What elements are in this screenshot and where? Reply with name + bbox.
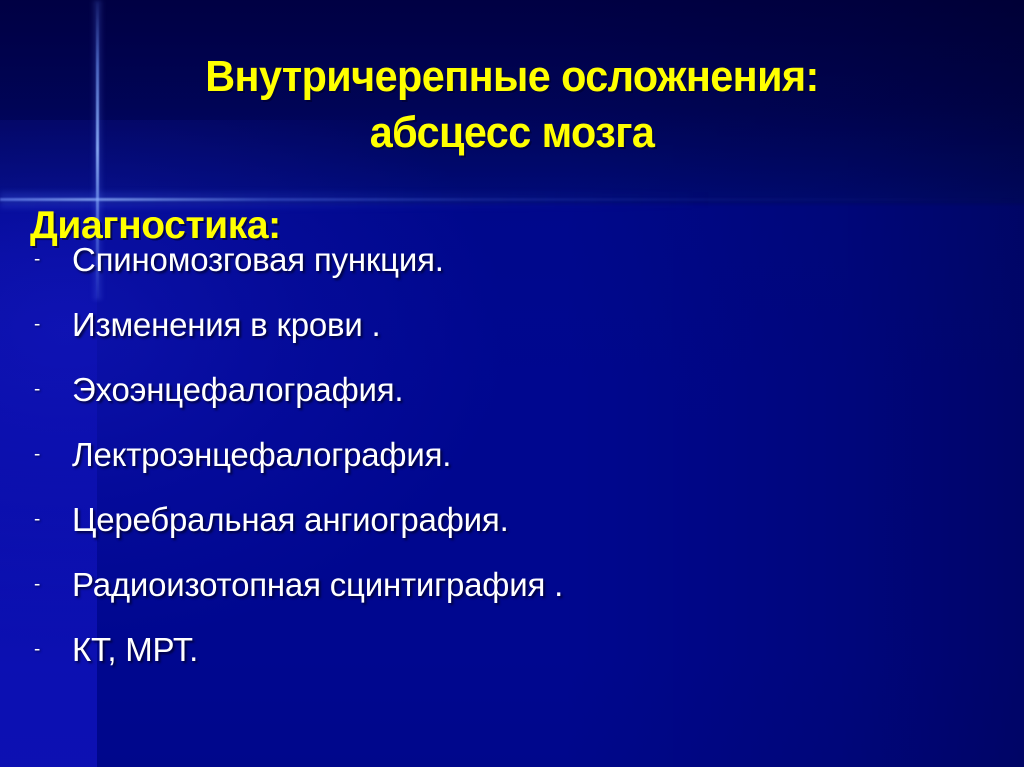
list-item: - Изменения в крови .	[0, 298, 1024, 363]
list-item-label: Церебральная ангиография.	[72, 501, 509, 538]
list-item-label: Лектроэнцефалография.	[72, 436, 451, 473]
bullet-dash-icon: -	[34, 233, 48, 287]
diagnostics-list: - Спиномозговая пункция. - Изменения в к…	[0, 233, 1024, 688]
list-item: - Радиоизотопная сцинтиграфия .	[0, 558, 1024, 623]
list-item-label: Эхоэнцефалография.	[72, 371, 403, 408]
list-item: - Лектроэнцефалография.	[0, 428, 1024, 493]
bullet-dash-icon: -	[34, 623, 48, 677]
list-item-label: Радиоизотопная сцинтиграфия .	[72, 566, 563, 603]
slide-title: Внутричерепные осложнения: абсцесс мозга	[31, 49, 994, 161]
bullet-dash-icon: -	[34, 428, 48, 482]
bullet-dash-icon: -	[34, 493, 48, 547]
bullet-dash-icon: -	[34, 298, 48, 352]
list-item: - Церебральная ангиография.	[0, 493, 1024, 558]
list-item-label: Спиномозговая пункция.	[72, 241, 444, 278]
list-item-label: КТ, МРТ.	[72, 631, 198, 668]
list-item: - Эхоэнцефалография.	[0, 363, 1024, 428]
list-item-label: Изменения в крови .	[72, 306, 381, 343]
presentation-slide: Внутричерепные осложнения: абсцесс мозга…	[0, 0, 1024, 767]
list-item: - Спиномозговая пункция.	[0, 233, 1024, 298]
list-item: - КТ, МРТ.	[0, 623, 1024, 688]
slide-content: Внутричерепные осложнения: абсцесс мозга…	[0, 0, 1024, 767]
bullet-dash-icon: -	[34, 558, 48, 612]
bullet-dash-icon: -	[34, 363, 48, 417]
